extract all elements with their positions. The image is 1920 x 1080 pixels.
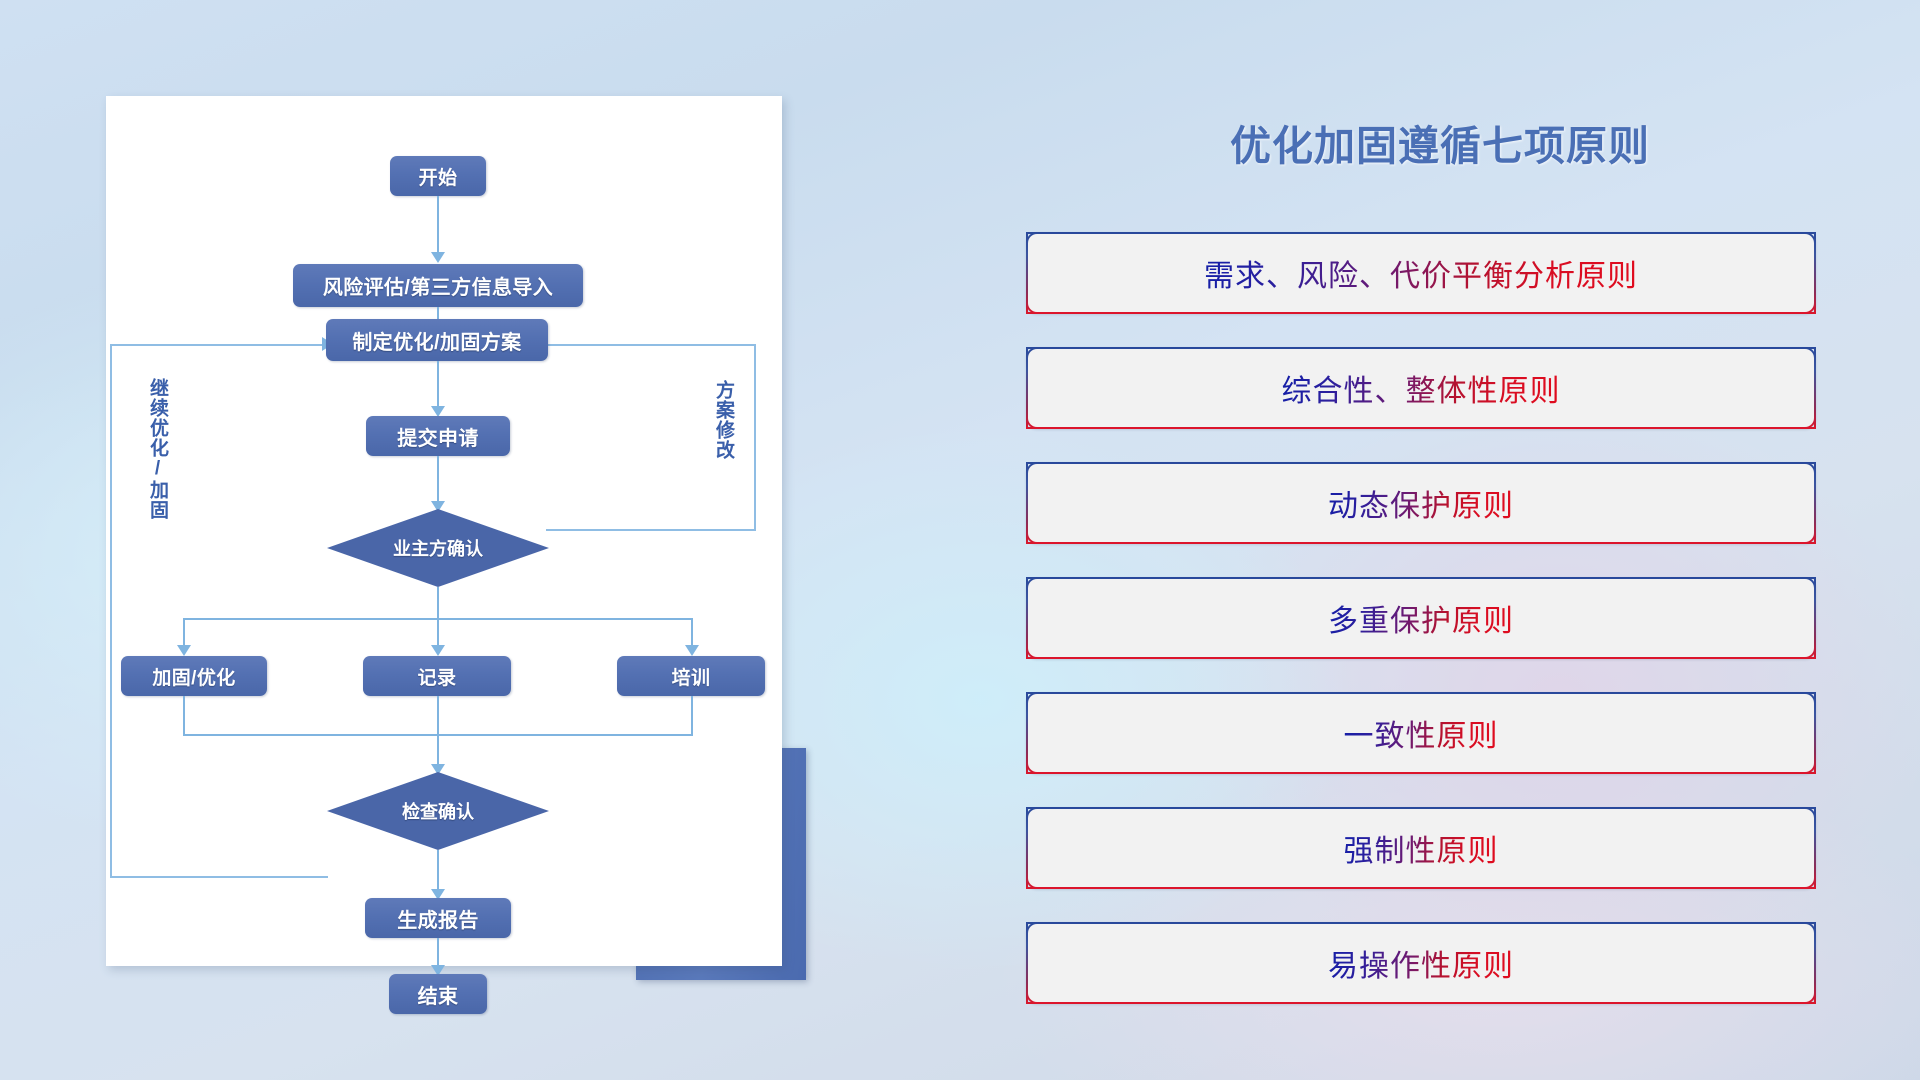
edge-start-to-risk (437, 196, 439, 259)
principle-card-label: 需求、风险、代价平衡分析原则 (1204, 251, 1638, 295)
principles-list: 需求、风险、代价平衡分析原则 综合性、整体性原则 动态保护原则 多重保护原则 一… (1026, 232, 1816, 1037)
node-reinforce[interactable]: 加固/优化 (121, 656, 267, 696)
node-record-label: 记录 (418, 663, 457, 690)
flowchart-panel: 继续优化/加固 方案修改 开始 风险评估/第三方信息导入 制定优化/加固方案 提… (106, 96, 782, 966)
principle-card[interactable]: 一致性原则 (1026, 692, 1816, 774)
node-end[interactable]: 结束 (389, 974, 487, 1014)
principle-card[interactable]: 多重保护原则 (1026, 577, 1816, 659)
node-risk-assessment[interactable]: 风险评估/第三方信息导入 (293, 264, 583, 307)
principle-card[interactable]: 综合性、整体性原则 (1026, 347, 1816, 429)
left-loop-path (110, 344, 328, 878)
slide-canvas: 继续优化/加固 方案修改 开始 风险评估/第三方信息导入 制定优化/加固方案 提… (0, 0, 1920, 1080)
decision-owner-confirm[interactable]: 业主方确认 (327, 509, 549, 587)
edge-arrow-down-icon (431, 645, 445, 656)
decision-check-confirm-label: 检查确认 (402, 798, 474, 824)
principle-card-label: 强制性原则 (1344, 826, 1499, 870)
node-report-label: 生成报告 (397, 904, 479, 933)
node-submit[interactable]: 提交申请 (366, 416, 510, 456)
node-submit-label: 提交申请 (397, 422, 479, 451)
principle-card-label: 综合性、整体性原则 (1282, 366, 1561, 410)
node-report[interactable]: 生成报告 (365, 898, 511, 938)
edge-arrow-down-icon (177, 645, 191, 656)
left-loop-label: 继续优化/加固 (144, 378, 171, 520)
edge-owner-down (437, 587, 439, 620)
principle-card-label: 动态保护原则 (1328, 481, 1514, 525)
node-risk-assessment-label: 风险评估/第三方信息导入 (323, 271, 553, 300)
edge-arrow-down-icon (431, 252, 445, 263)
principle-card[interactable]: 易操作性原则 (1026, 922, 1816, 1004)
node-reinforce-label: 加固/优化 (152, 663, 235, 690)
edge-record-down (437, 696, 439, 736)
principle-card-label: 一致性原则 (1344, 711, 1499, 755)
edge-training-down (691, 696, 693, 736)
node-start[interactable]: 开始 (390, 156, 486, 196)
principle-card[interactable]: 需求、风险、代价平衡分析原则 (1026, 232, 1816, 314)
decision-check-confirm[interactable]: 检查确认 (327, 772, 549, 850)
principle-card[interactable]: 强制性原则 (1026, 807, 1816, 889)
node-record[interactable]: 记录 (363, 656, 511, 696)
right-loop-label: 方案修改 (710, 380, 737, 460)
node-plan-label: 制定优化/加固方案 (352, 326, 521, 355)
principle-card-label: 易操作性原则 (1328, 941, 1514, 985)
node-training[interactable]: 培训 (617, 656, 765, 696)
node-start-label: 开始 (419, 163, 458, 190)
decision-owner-confirm-label: 业主方确认 (393, 535, 483, 561)
node-end-label: 结束 (418, 980, 459, 1009)
edge-reinforce-down (183, 696, 185, 736)
node-training-label: 培训 (672, 663, 711, 690)
principle-card[interactable]: 动态保护原则 (1026, 462, 1816, 544)
principle-card-label: 多重保护原则 (1328, 596, 1514, 640)
page-title: 优化加固遵循七项原则 (1030, 112, 1850, 172)
node-plan[interactable]: 制定优化/加固方案 (326, 319, 548, 361)
edge-arrow-down-icon (685, 645, 699, 656)
